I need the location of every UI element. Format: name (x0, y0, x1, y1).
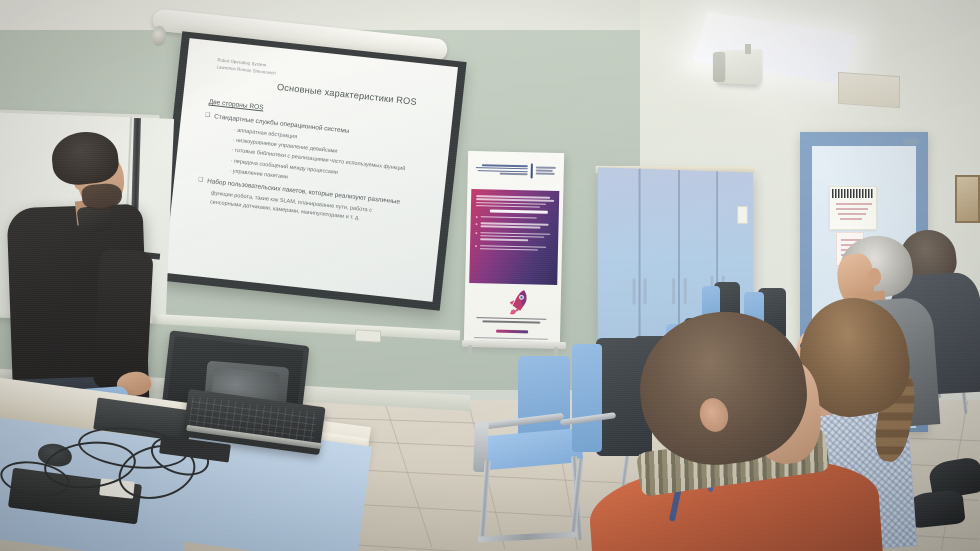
slide-title: Основные характеристики ROS (244, 78, 449, 110)
door-handle[interactable] (903, 138, 919, 145)
banner-logo (476, 159, 556, 181)
door-notice-barcode (832, 189, 874, 198)
rocket-icon (504, 288, 531, 319)
lecture-room-photo: Robot Operating System Lawrence Roman Si… (0, 0, 980, 551)
banner-panel (469, 189, 559, 285)
banner-logo-subtext (536, 167, 556, 175)
banner-panel-bullet (476, 216, 554, 221)
banner-panel-heading (490, 210, 548, 214)
cabinet-notice (737, 206, 748, 224)
banner-panel-bullet (475, 222, 553, 230)
banner-url (496, 330, 528, 334)
banner-panel-bullet (475, 232, 553, 244)
cabinet-handle[interactable] (633, 278, 636, 305)
vent-plate (838, 72, 900, 108)
cabinet-handle[interactable] (672, 278, 675, 304)
projection-screen: Robot Operating System Lawrence Roman Si… (164, 38, 458, 302)
cabinet-handle[interactable] (684, 278, 687, 304)
floor-tile-line (385, 404, 433, 548)
roll-up-banner (464, 151, 564, 346)
slide-subtitle: Две стороны ROS (208, 99, 264, 112)
wall-picture-frame (955, 175, 980, 223)
slide-kicker: Robot Operating System Lawrence Roman Si… (216, 57, 277, 77)
bullet-dot-icon (475, 245, 477, 247)
cabinet-seam (639, 169, 641, 340)
power-socket-icon (355, 329, 381, 342)
university-crest-icon (531, 163, 533, 178)
banner-panel-bullet (475, 245, 553, 253)
banner-logo-text (476, 164, 528, 175)
cabinet-seam (678, 170, 680, 338)
bullet-dot-icon (475, 232, 477, 234)
wall-speaker-face (713, 52, 725, 82)
audience-man-gray-ear (868, 268, 881, 286)
slide: Robot Operating System Lawrence Roman Si… (164, 38, 458, 302)
bullet-square-icon: ❑ (205, 112, 211, 121)
bullet-dot-icon (476, 216, 478, 218)
cabinet-handle[interactable] (644, 278, 647, 304)
slide-body: ❑ Стандартные службы операционной систем… (195, 112, 440, 233)
wall-speaker-bracket (745, 44, 751, 54)
bullet-square-icon: ❑ (198, 177, 204, 186)
bullet-dot-icon (476, 223, 478, 225)
presenter-arm (92, 249, 153, 392)
banner-footer (476, 317, 548, 325)
